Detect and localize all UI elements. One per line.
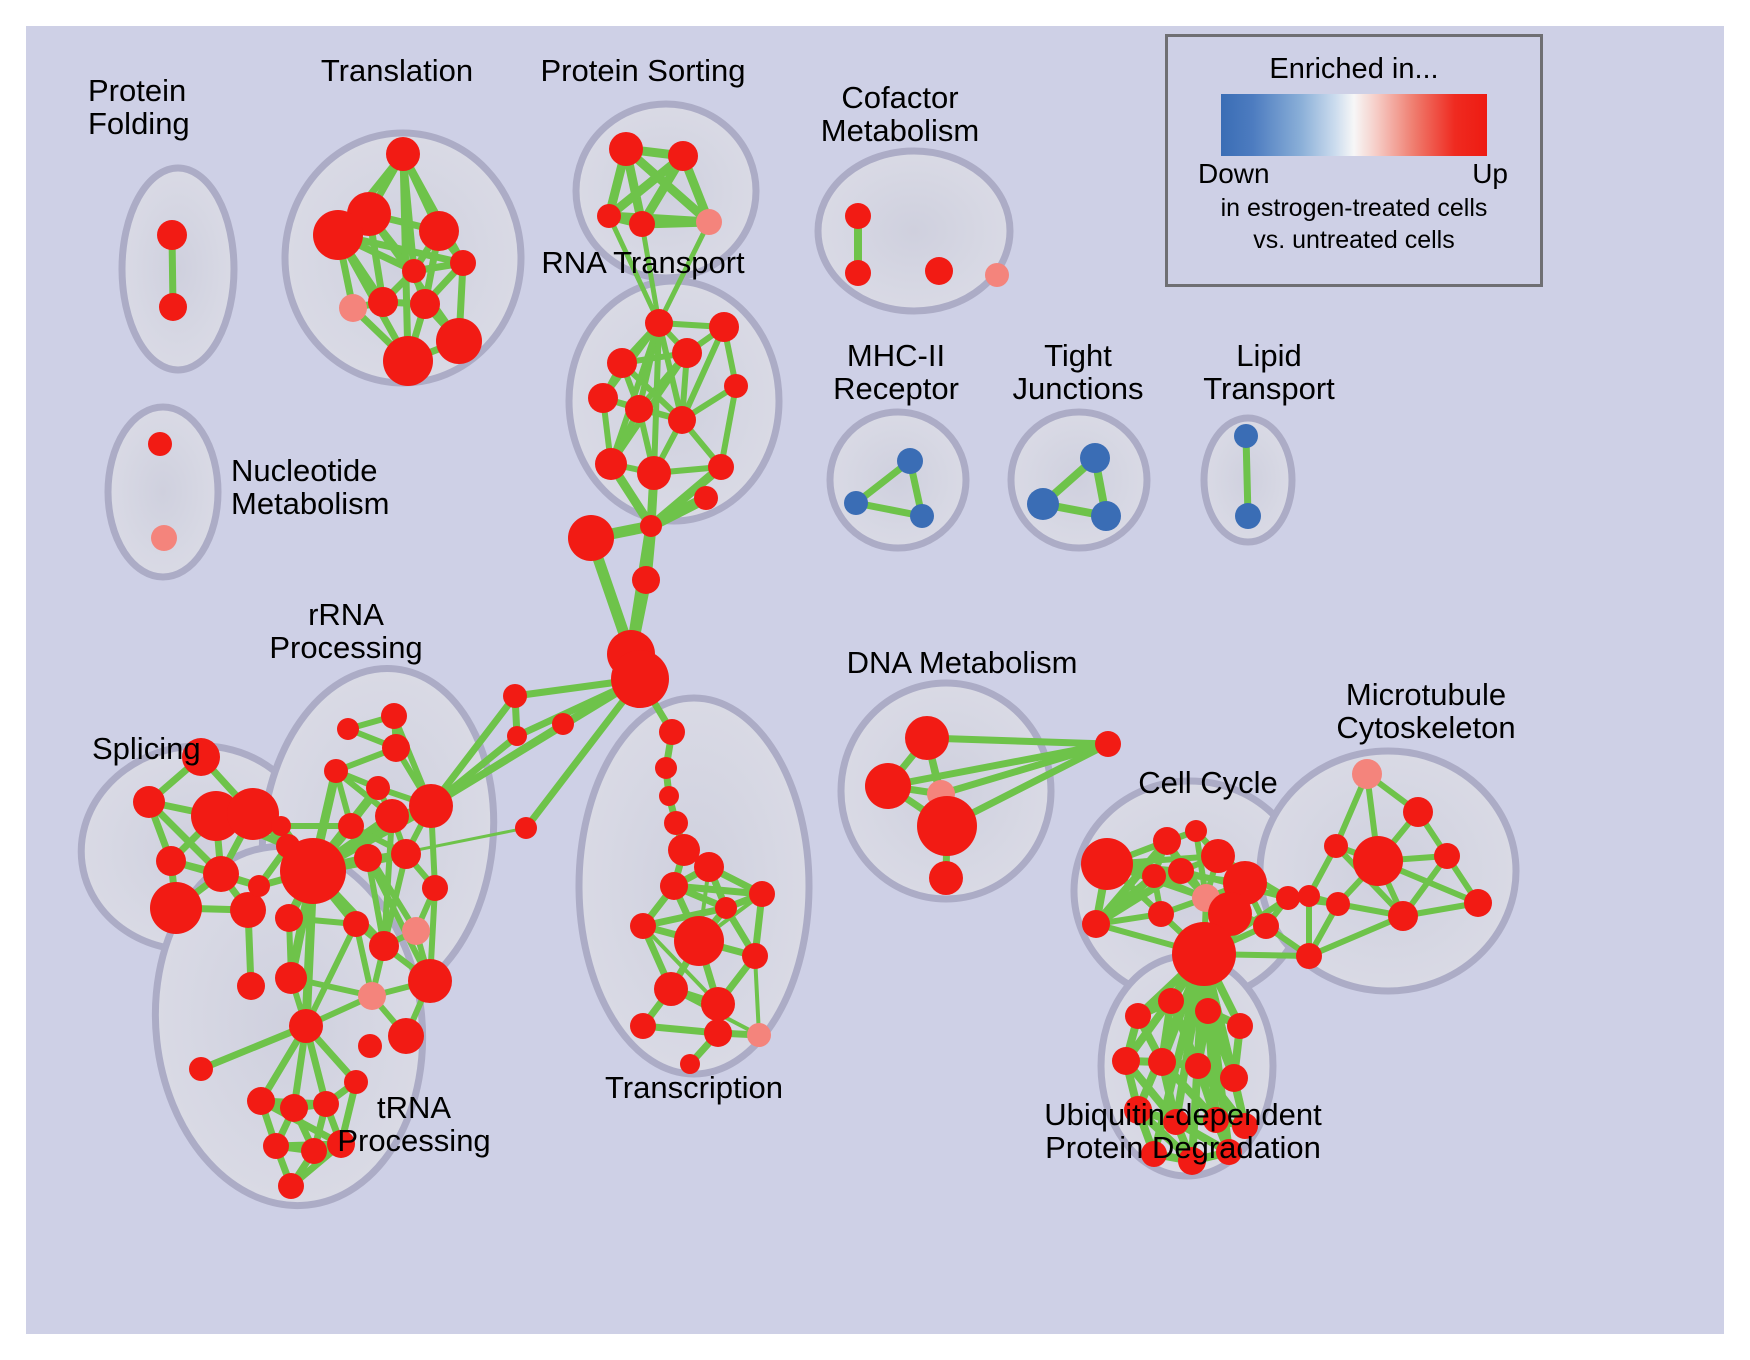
node xyxy=(701,987,735,1021)
node xyxy=(607,348,637,378)
cluster-label-rna-transport: RNA Transport xyxy=(541,246,744,279)
node xyxy=(1388,901,1418,931)
node xyxy=(436,318,482,364)
node xyxy=(1234,424,1258,448)
node xyxy=(694,486,718,510)
node xyxy=(925,257,953,285)
node xyxy=(929,861,963,895)
node xyxy=(159,293,187,321)
node xyxy=(409,784,453,828)
node xyxy=(597,204,621,228)
node xyxy=(674,916,724,966)
legend-panel: Enriched in... Down Up in estrogen-treat… xyxy=(1165,34,1543,287)
node xyxy=(715,897,737,919)
node xyxy=(749,881,775,907)
edge xyxy=(403,154,408,361)
cluster-label-translation: Translation xyxy=(321,54,473,87)
cluster-label-trna-processing: tRNA Processing xyxy=(337,1091,490,1158)
node xyxy=(1027,488,1059,520)
node xyxy=(672,338,702,368)
node xyxy=(1080,443,1110,473)
node xyxy=(1172,922,1236,986)
node xyxy=(369,931,399,961)
node xyxy=(408,959,452,1003)
node xyxy=(337,718,359,740)
node xyxy=(1153,827,1181,855)
node xyxy=(419,211,459,251)
node xyxy=(503,684,527,708)
node xyxy=(910,504,934,528)
node xyxy=(659,719,685,745)
node xyxy=(263,1133,289,1159)
cluster-label-tight-junctions: Tight Junctions xyxy=(1013,339,1144,406)
node xyxy=(450,250,476,276)
cluster-label-protein-sorting: Protein Sorting xyxy=(540,54,745,87)
node xyxy=(1434,843,1460,869)
legend-endpoints: Down Up xyxy=(1186,158,1522,192)
node xyxy=(386,137,420,171)
node xyxy=(515,817,537,839)
node xyxy=(1082,910,1110,938)
node xyxy=(1235,503,1261,529)
figure-root: Protein Folding Translation Protein Sort… xyxy=(0,0,1750,1360)
node xyxy=(595,448,627,480)
node xyxy=(410,289,440,319)
cluster-label-splicing: Splicing xyxy=(92,732,201,765)
node xyxy=(133,786,165,818)
node xyxy=(845,260,871,286)
hull-mhc xyxy=(830,412,966,548)
node xyxy=(338,813,364,839)
node xyxy=(1352,759,1382,789)
node xyxy=(1095,731,1121,757)
node xyxy=(301,1138,327,1164)
node xyxy=(227,788,279,840)
node xyxy=(1142,864,1166,888)
node xyxy=(625,395,653,423)
node xyxy=(358,1034,382,1058)
node xyxy=(275,904,303,932)
node xyxy=(630,1013,656,1039)
node xyxy=(1185,820,1207,842)
node xyxy=(696,209,722,235)
node xyxy=(203,856,239,892)
node xyxy=(1227,1013,1253,1039)
node xyxy=(708,454,734,480)
cluster-label-nucleotide-metabolism: Nucleotide Metabolism xyxy=(231,454,390,521)
node xyxy=(1276,886,1300,910)
legend-high-label: Up xyxy=(1472,158,1508,190)
node xyxy=(381,703,407,729)
cluster-label-mhc-ii-receptor: MHC-II Receptor xyxy=(833,339,959,406)
node xyxy=(985,263,1009,287)
node xyxy=(637,456,671,490)
cluster-label-microtubule-cytoskeleton: Microtubule Cytoskeleton xyxy=(1336,678,1515,745)
node xyxy=(747,1023,771,1047)
node xyxy=(629,211,655,237)
node xyxy=(611,650,669,708)
node xyxy=(189,1057,213,1081)
node xyxy=(383,336,433,386)
cluster-label-rrna-processing: rRNA Processing xyxy=(269,598,422,665)
node xyxy=(313,210,363,260)
legend-title: Enriched in... xyxy=(1168,53,1540,86)
node xyxy=(1091,501,1121,531)
node xyxy=(1298,885,1320,907)
node xyxy=(1326,892,1350,916)
node xyxy=(897,448,923,474)
node xyxy=(1125,1003,1151,1029)
node xyxy=(1253,913,1279,939)
cluster-label-cofactor-metabolism: Cofactor Metabolism xyxy=(821,81,980,148)
legend-caption-line1: in estrogen-treated cells xyxy=(1168,194,1540,224)
hull-protein-folding xyxy=(122,168,234,370)
node xyxy=(632,566,660,594)
node xyxy=(845,203,871,229)
node xyxy=(289,1009,323,1043)
network-canvas: Protein Folding Translation Protein Sort… xyxy=(26,26,1724,1334)
node xyxy=(280,1094,308,1122)
node xyxy=(339,294,367,322)
node xyxy=(724,374,748,398)
node xyxy=(422,875,448,901)
node xyxy=(280,838,346,904)
node xyxy=(358,982,386,1010)
cluster-label-protein-folding: Protein Folding xyxy=(88,74,190,141)
cluster-label-transcription: Transcription xyxy=(605,1071,783,1104)
node xyxy=(313,1091,339,1117)
node xyxy=(694,852,724,882)
node xyxy=(275,962,307,994)
node xyxy=(237,972,265,1000)
node xyxy=(640,515,662,537)
node xyxy=(1148,901,1174,927)
cluster-label-ubiquitin-degradation: Ubiquitin-dependent Protein Degradation xyxy=(1044,1098,1322,1165)
node xyxy=(324,759,348,783)
node xyxy=(645,309,673,337)
node xyxy=(354,844,382,872)
node xyxy=(157,220,187,250)
node xyxy=(704,1019,732,1047)
node xyxy=(1112,1047,1140,1075)
cluster-label-cell-cycle: Cell Cycle xyxy=(1138,766,1278,799)
legend-low-label: Down xyxy=(1198,158,1270,190)
edge xyxy=(609,216,709,222)
node xyxy=(271,816,291,836)
node xyxy=(1403,797,1433,827)
node xyxy=(151,525,177,551)
node xyxy=(664,811,688,835)
legend-caption-line2: vs. untreated cells xyxy=(1168,226,1540,256)
node xyxy=(1464,889,1492,917)
node xyxy=(917,796,977,856)
node xyxy=(844,491,868,515)
node xyxy=(568,515,614,561)
node xyxy=(1353,836,1403,886)
node xyxy=(391,839,421,869)
node xyxy=(366,776,390,800)
node xyxy=(609,132,643,166)
node xyxy=(248,875,270,897)
node xyxy=(1168,858,1194,884)
hull-tight-junctions xyxy=(1011,412,1147,548)
node xyxy=(148,432,172,456)
node xyxy=(709,312,739,342)
node xyxy=(655,757,677,779)
node xyxy=(630,913,656,939)
node xyxy=(865,763,911,809)
node xyxy=(402,259,426,283)
node xyxy=(1324,834,1348,858)
node xyxy=(278,1173,304,1199)
node xyxy=(343,911,369,937)
node xyxy=(654,972,688,1006)
legend-colorbar xyxy=(1221,94,1487,156)
node xyxy=(1195,998,1221,1024)
node xyxy=(402,917,430,945)
node xyxy=(668,141,698,171)
node xyxy=(1158,988,1184,1014)
node xyxy=(1148,1048,1176,1076)
node xyxy=(742,943,768,969)
node xyxy=(552,713,574,735)
node xyxy=(1296,943,1322,969)
hull-cofactor xyxy=(818,151,1010,311)
node xyxy=(247,1087,275,1115)
node xyxy=(905,716,949,760)
node xyxy=(588,383,618,413)
node xyxy=(388,1018,424,1054)
node xyxy=(230,892,266,928)
node xyxy=(507,726,527,746)
node xyxy=(1220,1064,1248,1092)
node xyxy=(150,882,202,934)
node xyxy=(368,287,398,317)
node xyxy=(382,734,410,762)
node xyxy=(156,846,186,876)
node xyxy=(668,406,696,434)
node xyxy=(660,872,688,900)
node xyxy=(375,799,409,833)
node xyxy=(1081,838,1133,890)
node xyxy=(1185,1053,1211,1079)
cluster-label-dna-metabolism: DNA Metabolism xyxy=(847,646,1078,679)
node xyxy=(659,786,679,806)
cluster-label-lipid-transport: Lipid Transport xyxy=(1203,339,1335,406)
